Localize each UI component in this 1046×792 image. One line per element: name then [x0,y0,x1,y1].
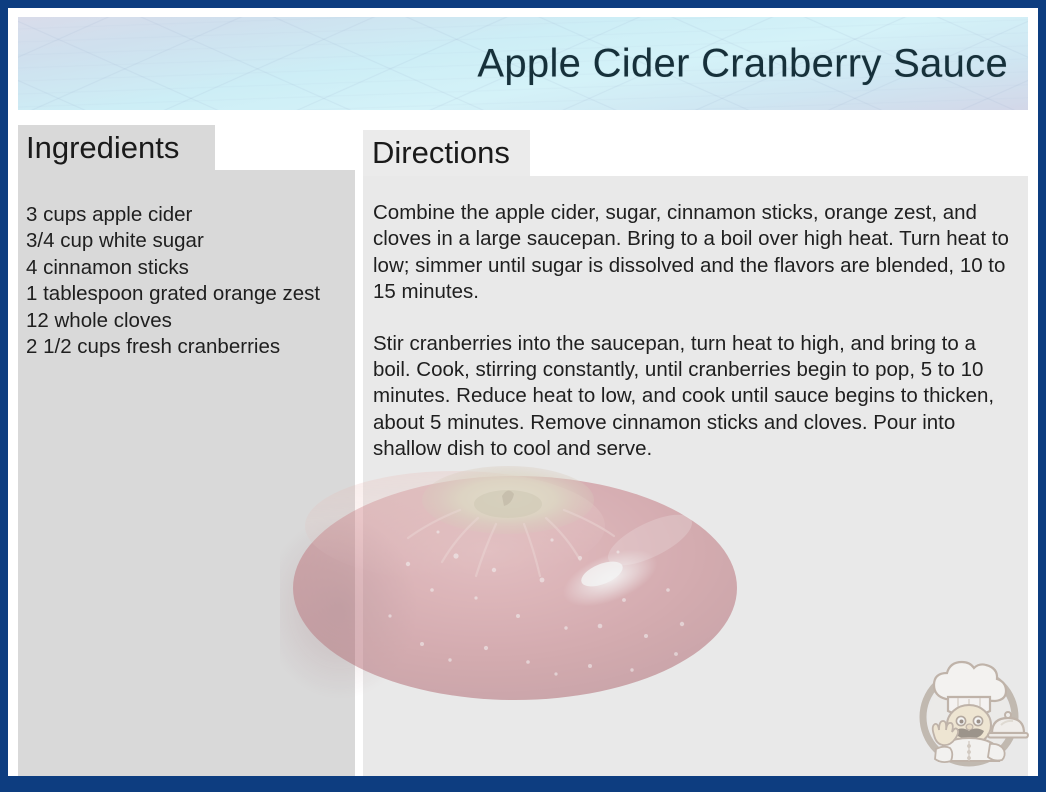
ingredients-heading: Ingredients [26,128,179,168]
recipe-slide: Apple Cider Cranberry Sauce Ingredients … [0,0,1046,792]
directions-paragraph: Stir cranberries into the saucepan, turn… [373,331,1018,463]
list-item: 2 1/2 cups fresh cranberries [26,334,356,360]
directions-body: Combine the apple cider, sugar, cinnamon… [373,200,1018,463]
page-title: Apple Cider Cranberry Sauce [477,41,1008,86]
header-banner: Apple Cider Cranberry Sauce [18,17,1028,110]
directions-paragraph: Combine the apple cider, sugar, cinnamon… [373,200,1018,306]
ingredients-list: 3 cups apple cider 3/4 cup white sugar 4… [26,202,356,360]
slide-page: Apple Cider Cranberry Sauce Ingredients … [8,8,1038,776]
list-item: 4 cinnamon sticks [26,255,356,281]
list-item: 1 tablespoon grated orange zest [26,281,356,307]
list-item: 3 cups apple cider [26,202,356,228]
list-item: 12 whole cloves [26,308,356,334]
directions-heading: Directions [372,133,510,173]
list-item: 3/4 cup white sugar [26,228,356,254]
